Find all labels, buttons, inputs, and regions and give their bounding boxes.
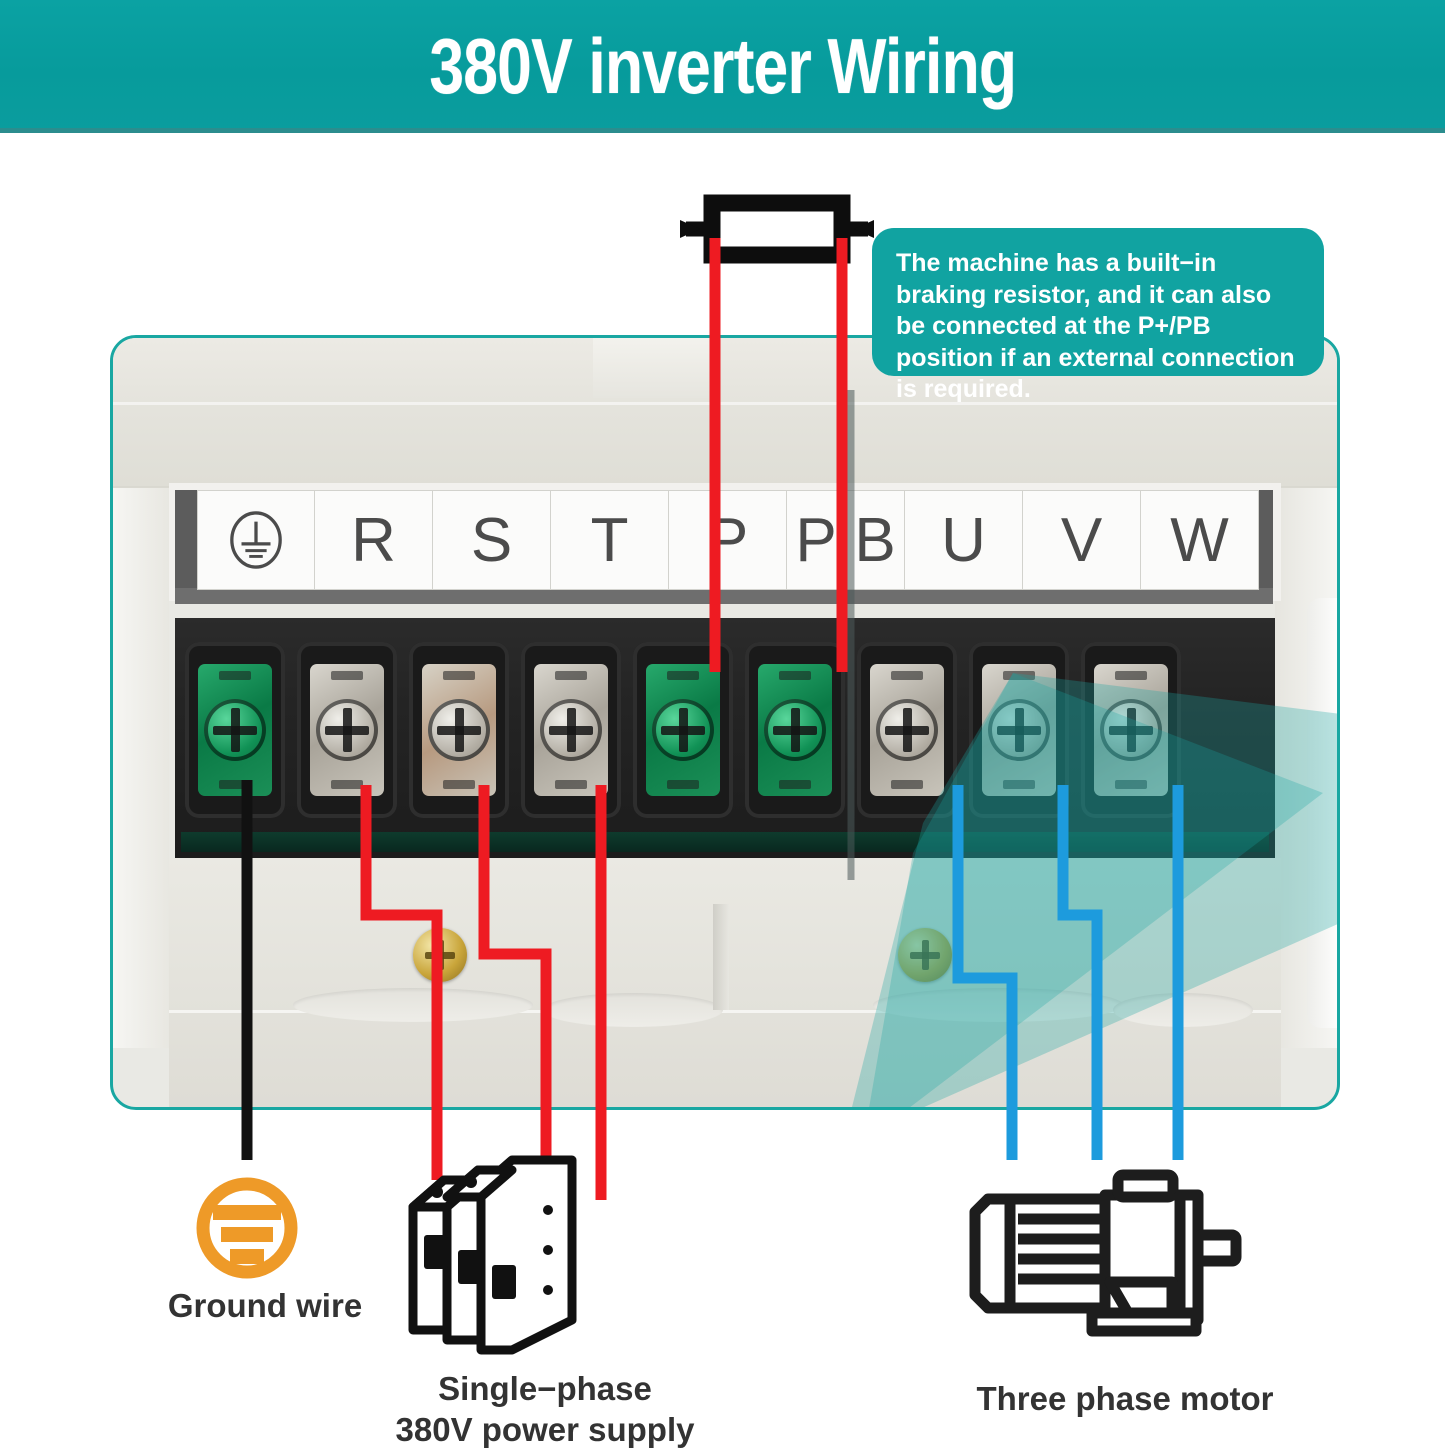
inverter-unit: R S T P P B U V W <box>110 335 1340 1110</box>
legend-label-supply: Single−phase 380V power supply <box>330 1368 760 1451</box>
left-rail <box>113 488 169 1048</box>
vent-slot <box>293 988 533 1022</box>
terminal-label-pb-b: B <box>846 490 905 590</box>
terminal-label-w: W <box>1141 490 1259 590</box>
screw-t[interactable] <box>540 699 602 761</box>
label-strip-left-cap <box>175 490 197 600</box>
terminal-label-p: P <box>669 490 787 590</box>
terminal-labels: R S T P P B U V W <box>197 490 1259 590</box>
vent-slot <box>1113 993 1253 1027</box>
screw-w[interactable] <box>1100 699 1162 761</box>
shell-notch <box>593 338 713 398</box>
screw-p[interactable] <box>652 699 714 761</box>
terminal-pb[interactable] <box>745 642 845 818</box>
body-divider-fin <box>713 904 729 1010</box>
screw-u[interactable] <box>876 699 938 761</box>
screw-r[interactable] <box>316 699 378 761</box>
vent-slot <box>543 993 723 1027</box>
terminal-label-v: V <box>1023 490 1141 590</box>
screw-ground[interactable] <box>204 699 266 761</box>
terminal-label-ground <box>197 490 315 590</box>
terminal-v[interactable] <box>969 642 1069 818</box>
circuit-breaker-icon <box>413 1160 572 1350</box>
callout-text: The machine has a built−in braking resis… <box>896 248 1302 406</box>
legend-label-ground: Ground wire <box>120 1285 410 1326</box>
earth-ground-icon <box>227 511 285 569</box>
screw-pb[interactable] <box>764 699 826 761</box>
terminal-u[interactable] <box>857 642 957 818</box>
terminal-label-t: T <box>551 490 669 590</box>
terminal-t[interactable] <box>521 642 621 818</box>
terminal-label-pb-p: P <box>787 490 846 590</box>
brass-screw-left[interactable] <box>413 928 467 982</box>
three-phase-motor-icon <box>975 1175 1236 1331</box>
terminal-ground[interactable] <box>185 642 285 818</box>
terminal-block <box>175 618 1275 858</box>
terminal-r[interactable] <box>297 642 397 818</box>
page-title: 380V inverter Wiring <box>429 21 1016 112</box>
terminal-screw-row <box>185 642 1181 832</box>
screw-v[interactable] <box>988 699 1050 761</box>
braking-resistor-icon <box>680 203 874 255</box>
terminal-p[interactable] <box>633 642 733 818</box>
ground-earth-icon <box>203 1184 291 1272</box>
terminal-label-r: R <box>315 490 433 590</box>
terminal-s[interactable] <box>409 642 509 818</box>
terminal-w[interactable] <box>1081 642 1181 818</box>
braking-resistor-callout: The machine has a built−in braking resis… <box>872 228 1324 376</box>
label-strip-base <box>175 588 1273 604</box>
screw-s[interactable] <box>428 699 490 761</box>
page-header: 380V inverter Wiring <box>0 0 1445 133</box>
legend-label-motor: Three phase motor <box>900 1378 1350 1419</box>
brass-screw-right[interactable] <box>898 928 952 982</box>
terminal-label-s: S <box>433 490 551 590</box>
terminal-label-u: U <box>905 490 1023 590</box>
vent-slot <box>873 988 1123 1022</box>
right-rail-inner <box>1307 598 1337 1028</box>
